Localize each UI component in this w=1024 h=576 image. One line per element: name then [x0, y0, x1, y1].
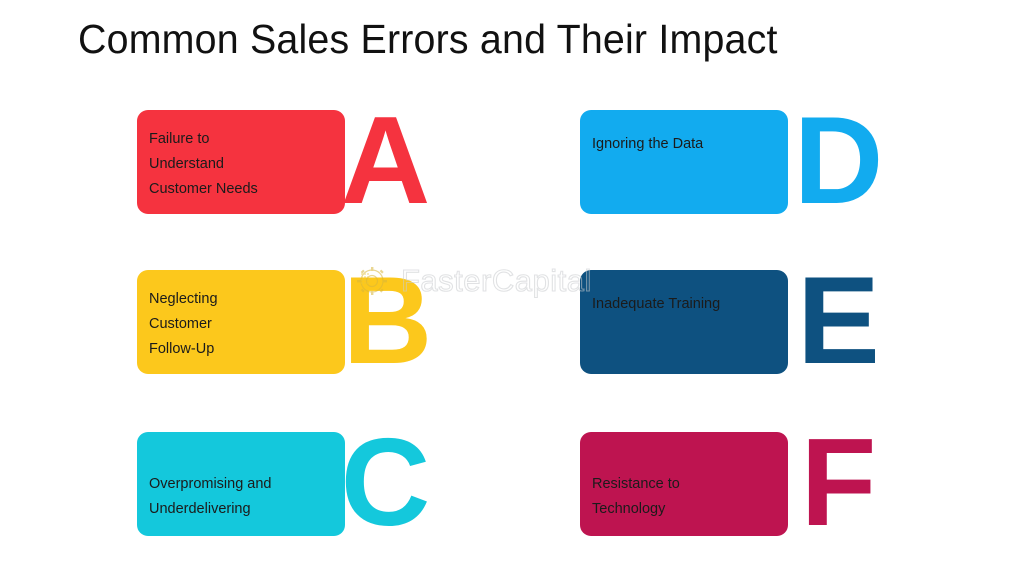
card-label-f: Resistance to Technology — [592, 472, 782, 522]
card-label-d: Ignoring the Data — [592, 132, 782, 157]
card-item-a[interactable]: Failure to Understand Customer Needs A — [137, 110, 457, 214]
card-item-d[interactable]: Ignoring the Data D — [580, 110, 900, 214]
card-label-e: Inadequate Training — [592, 292, 782, 317]
card-panel-e[interactable]: Inadequate Training — [580, 270, 788, 374]
card-item-e[interactable]: Inadequate Training E — [580, 270, 900, 374]
card-letter-a: A — [323, 102, 447, 222]
card-letter-b: B — [325, 262, 449, 382]
card-item-c[interactable]: Overpromising and Underdelivering C — [137, 432, 457, 536]
card-letter-e: E — [776, 262, 900, 382]
card-panel-b[interactable]: Neglecting Customer Follow-Up — [137, 270, 345, 374]
page-title: Common Sales Errors and Their Impact — [78, 11, 923, 67]
card-item-f[interactable]: Resistance to Technology F — [580, 432, 900, 536]
card-letter-c: C — [323, 424, 447, 544]
card-label-b: Neglecting Customer Follow-Up — [149, 287, 339, 362]
card-letter-d: D — [776, 102, 900, 222]
card-panel-f[interactable]: Resistance to Technology — [580, 432, 788, 536]
card-panel-a[interactable]: Failure to Understand Customer Needs — [137, 110, 345, 214]
card-item-b[interactable]: Neglecting Customer Follow-Up B — [137, 270, 457, 374]
card-panel-c[interactable]: Overpromising and Underdelivering — [137, 432, 345, 536]
card-label-c: Overpromising and Underdelivering — [149, 472, 339, 522]
card-label-a: Failure to Understand Customer Needs — [149, 127, 339, 202]
slide-canvas: Common Sales Errors and Their Impact Fai… — [0, 0, 1024, 576]
card-letter-f: F — [776, 424, 900, 544]
card-panel-d[interactable]: Ignoring the Data — [580, 110, 788, 214]
